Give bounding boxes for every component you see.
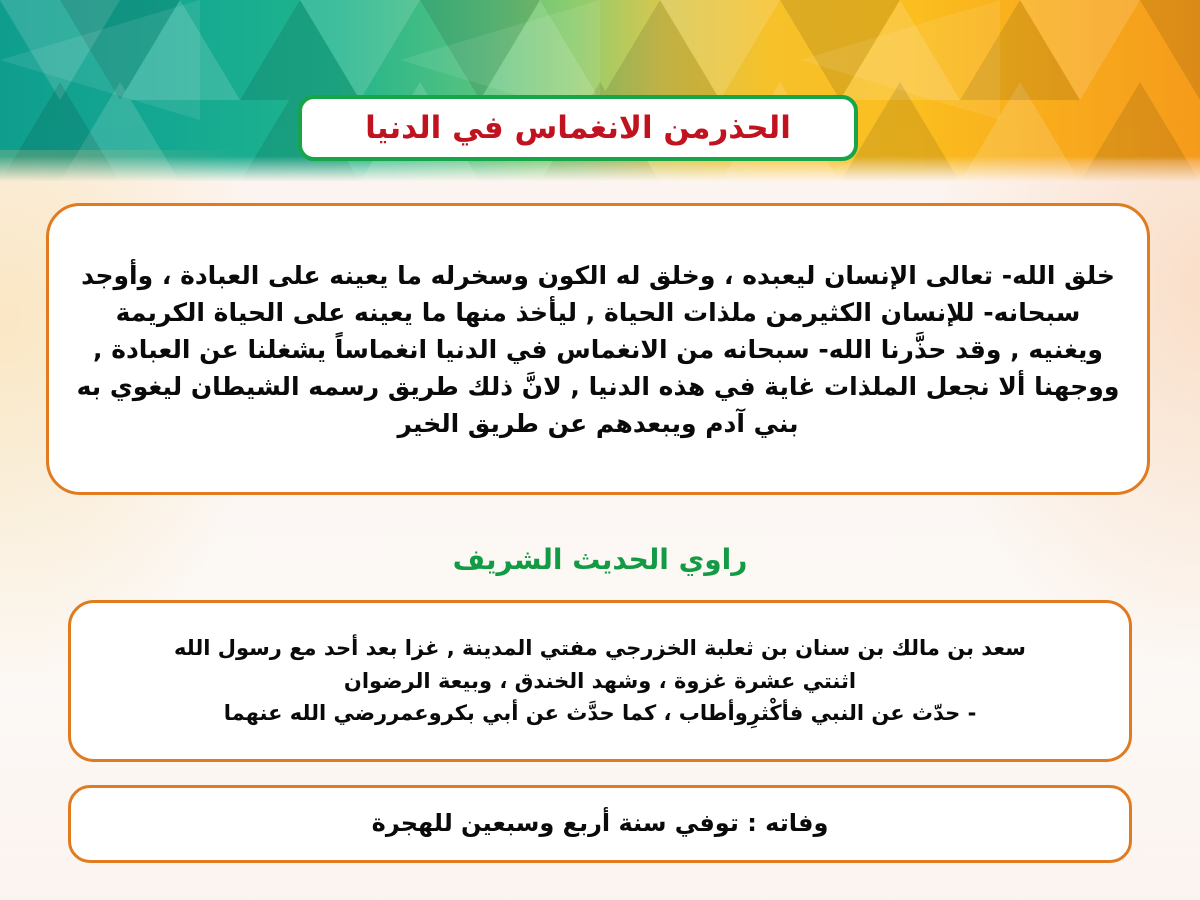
slide-title-box: الحذرمن الانغماس في الدنيا	[298, 95, 858, 161]
death-line: وفاته : توفي سنة أربع وسبعين للهجرة	[372, 808, 829, 839]
narrator-line: سعد بن مالك بن سنان بن ثعلبة الخزرجي مفت…	[174, 632, 1026, 665]
intro-line: بني آدم ويبعدهم عن طريق الخير	[397, 405, 798, 442]
narrator-text-box: سعد بن مالك بن سنان بن ثعلبة الخزرجي مفت…	[68, 600, 1132, 762]
slide-root: الحذرمن الانغماس في الدنيا خلق الله- تعا…	[0, 0, 1200, 900]
intro-line: سبحانه- للإنسان الكثيرمن ملذات الحياة , …	[116, 294, 1081, 331]
slide-title-text: الحذرمن الانغماس في الدنيا	[365, 113, 791, 144]
narrator-line: - حدّث عن النبي فأكْثرِوأطاب ، كما حدَّث…	[224, 697, 977, 730]
intro-line: خلق الله- تعالى الإنسان ليعبده ، وخلق له…	[81, 257, 1115, 294]
intro-line: ووجهنا ألا نجعل الملذات غاية في هذه الدن…	[77, 368, 1120, 405]
intro-text-box: خلق الله- تعالى الإنسان ليعبده ، وخلق له…	[46, 203, 1150, 495]
section-heading-narrator: راوي الحديث الشريف	[0, 545, 1200, 576]
intro-line: ويغنيه , وقد حذَّرنا الله- سبحانه من الا…	[93, 331, 1103, 368]
narrator-line: اثنتي عشرة غزوة ، وشهد الخندق ، وبيعة ال…	[344, 665, 856, 698]
death-text-box: وفاته : توفي سنة أربع وسبعين للهجرة	[68, 785, 1132, 863]
